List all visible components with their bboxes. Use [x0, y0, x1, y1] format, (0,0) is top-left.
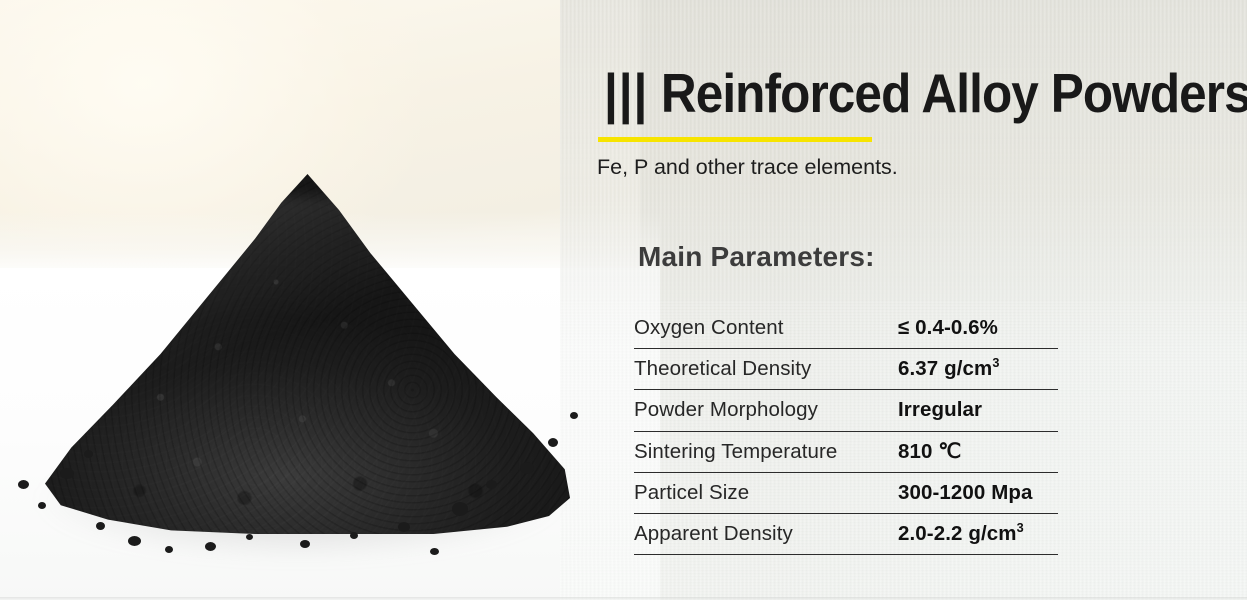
powder-granule [18, 480, 29, 489]
powder-granule [205, 542, 216, 551]
parameter-value-text: 6.37 g/cm [898, 357, 992, 380]
powder-granule [350, 532, 358, 539]
section-numeral: ||| [604, 62, 648, 124]
parameter-label: Theoretical Density [634, 357, 898, 381]
powder-granule [38, 502, 46, 509]
powder-granule [486, 480, 497, 489]
parameter-value-text: 2.0-2.2 g/cm [898, 522, 1017, 545]
parameter-value: 300-1200 Mpa [898, 481, 1058, 505]
parameter-value-text: 810 ℃ [898, 440, 961, 463]
parameter-label: Apparent Density [634, 522, 898, 546]
promo-banner: |||Reinforced Alloy Powders Fe, P and ot… [0, 0, 1247, 600]
powder-granule [452, 502, 468, 516]
parameter-value: ≤ 0.4-0.6% [898, 316, 1058, 340]
powder-granule [128, 536, 141, 546]
table-row: Theoretical Density6.37 g/cm3 [634, 349, 1058, 390]
parameter-value: 6.37 g/cm3 [898, 357, 1058, 381]
powder-granule [84, 450, 93, 458]
powder-granule [520, 462, 534, 474]
parameter-value-superscript: 3 [1017, 520, 1024, 535]
powder-granule [570, 412, 578, 419]
parameter-label: Oxygen Content [634, 316, 898, 340]
parameters-table: Oxygen Content≤ 0.4-0.6%Theoretical Dens… [634, 308, 1058, 555]
parameter-value-text: Irregular [898, 398, 982, 421]
parameter-value: Irregular [898, 398, 1058, 422]
subtitle: Fe, P and other trace elements. [597, 155, 898, 180]
powder-granule [60, 468, 74, 479]
powder-granule [548, 438, 558, 447]
page-title-text: Reinforced Alloy Powders [661, 62, 1247, 124]
powder-granule [165, 546, 173, 553]
table-row: Particel Size300-1200 Mpa [634, 473, 1058, 514]
table-row: Oxygen Content≤ 0.4-0.6% [634, 308, 1058, 349]
table-row: Apparent Density2.0-2.2 g/cm3 [634, 514, 1058, 555]
parameter-label: Sintering Temperature [634, 440, 898, 464]
table-row: Sintering Temperature810 ℃ [634, 432, 1058, 473]
powder-granule [398, 522, 410, 532]
title-accent-rule [598, 137, 872, 142]
parameter-value: 2.0-2.2 g/cm3 [898, 522, 1058, 546]
powder-granule [300, 540, 310, 548]
powder-granule [246, 534, 253, 540]
powder-granule [430, 548, 439, 555]
powder-product-image [0, 150, 610, 580]
powder-highlight [161, 196, 392, 412]
parameter-label: Powder Morphology [634, 398, 898, 422]
parameter-value-text: 300-1200 Mpa [898, 481, 1033, 504]
parameter-value-text: ≤ 0.4-0.6% [898, 316, 998, 339]
parameter-value: 810 ℃ [898, 439, 1058, 464]
parameters-heading: Main Parameters: [638, 241, 875, 273]
table-row: Powder MorphologyIrregular [634, 390, 1058, 431]
parameter-label: Particel Size [634, 481, 898, 505]
powder-granule [96, 522, 105, 530]
parameter-value-superscript: 3 [992, 355, 999, 370]
page-title: |||Reinforced Alloy Powders [604, 64, 1247, 122]
